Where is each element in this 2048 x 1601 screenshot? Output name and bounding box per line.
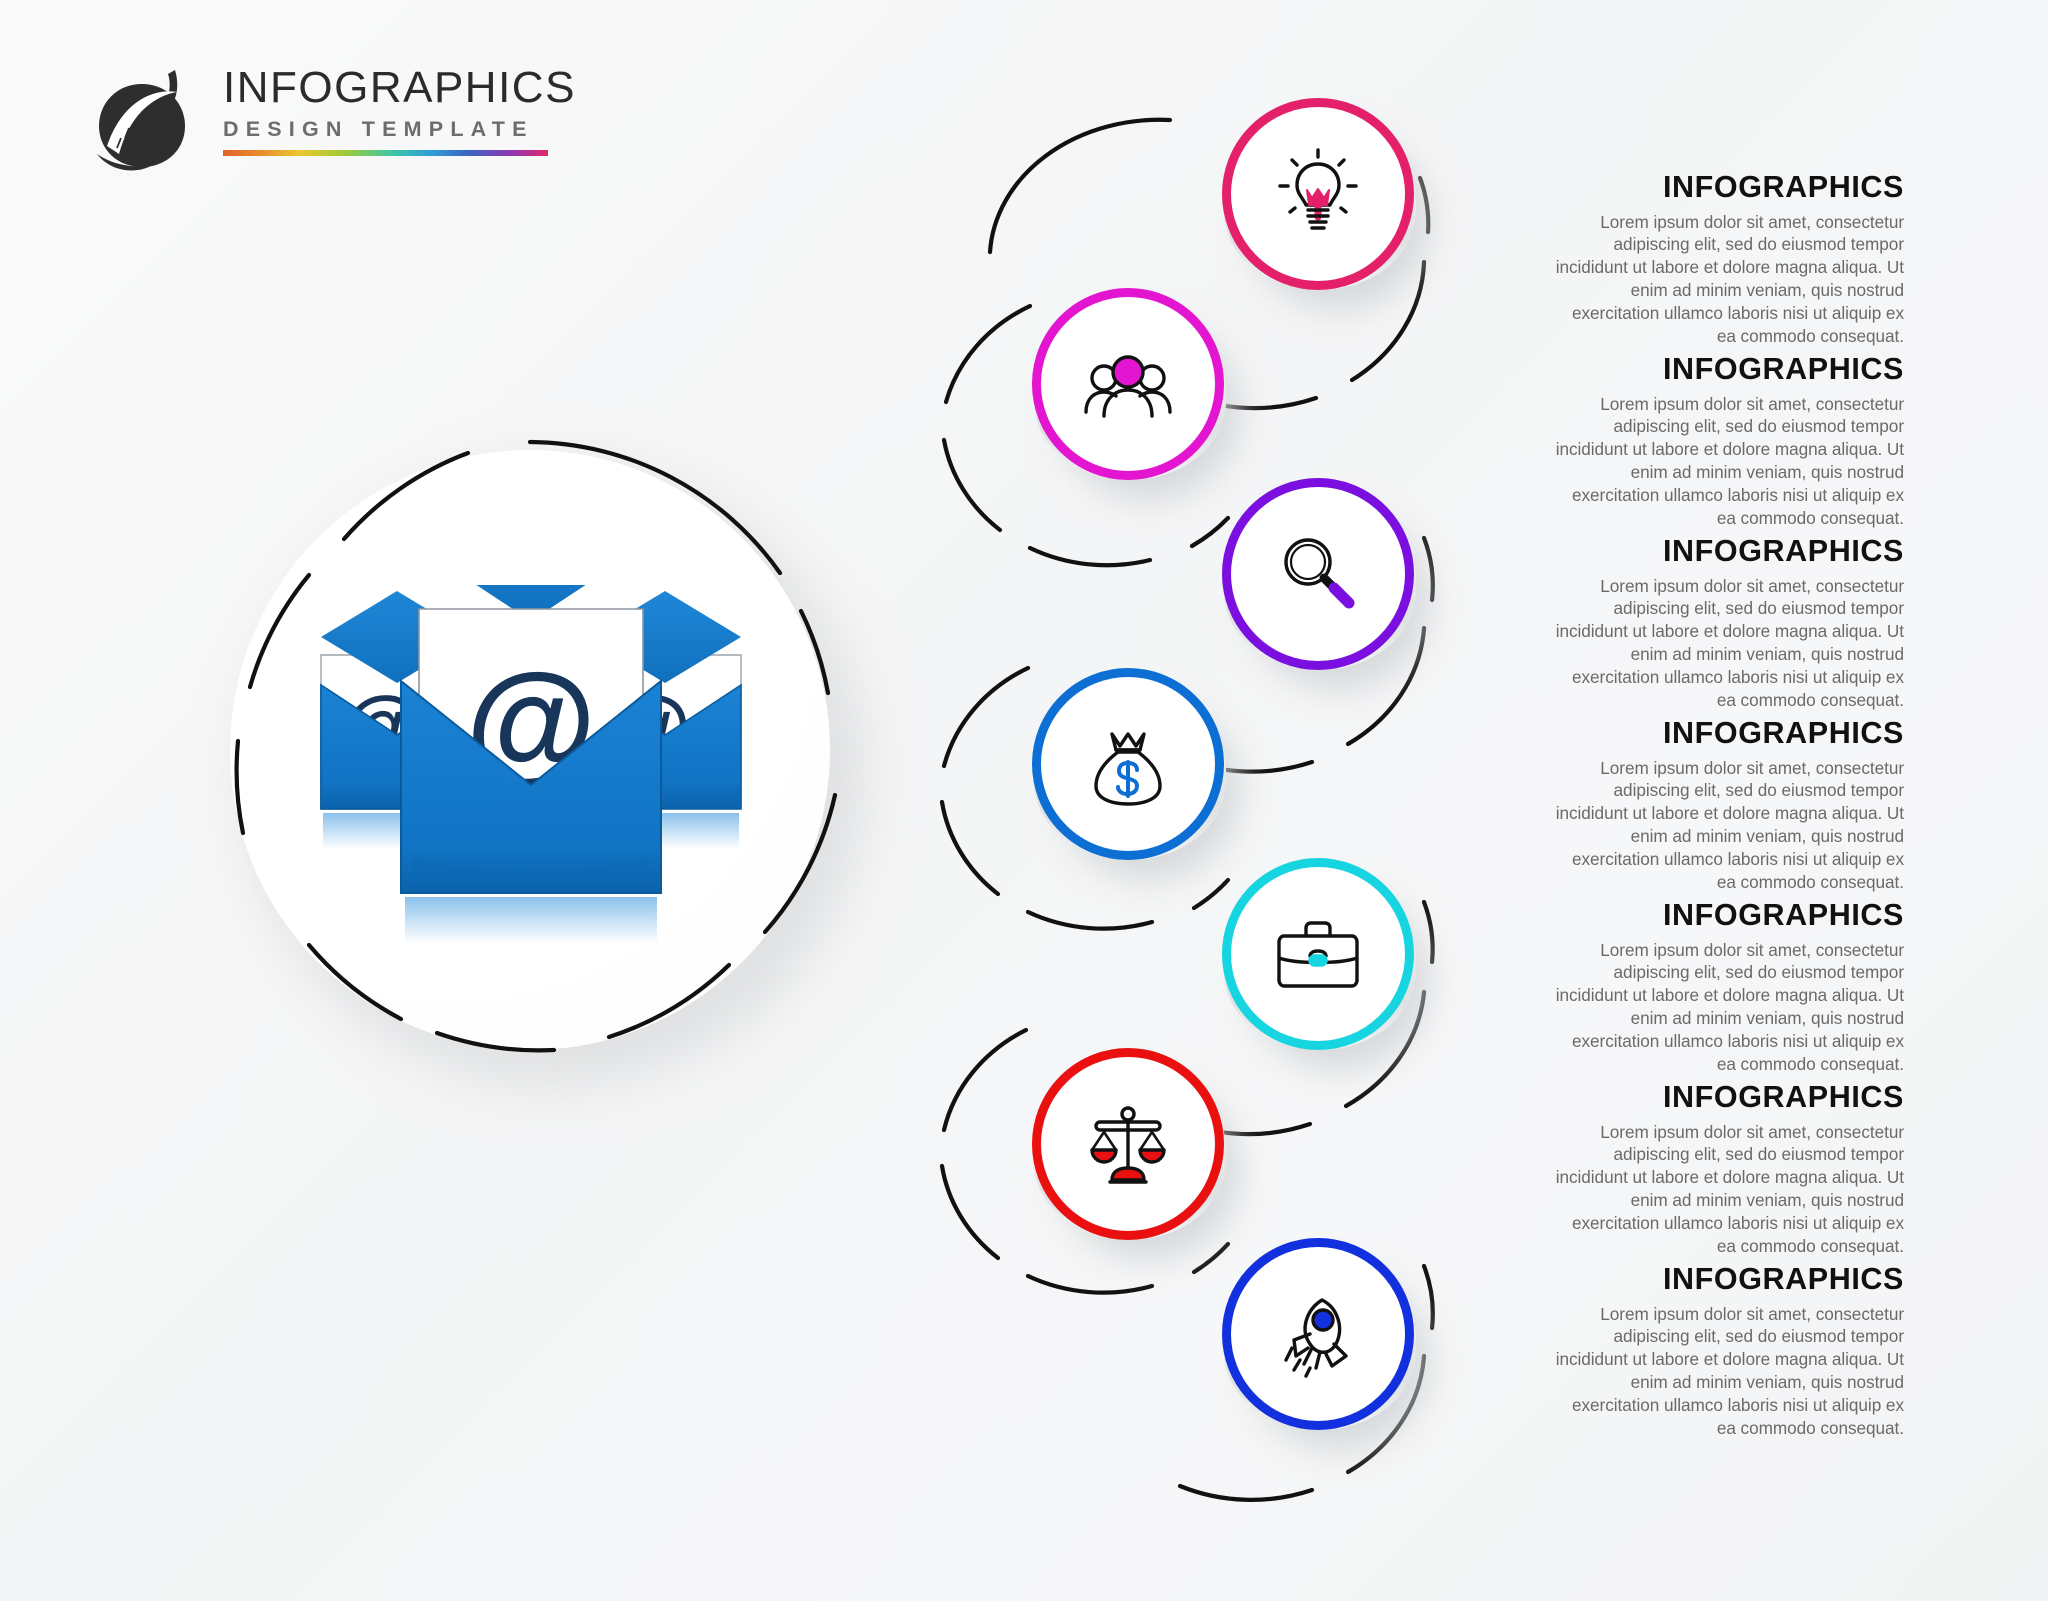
infographic-canvas: INFOGRAPHICS DESIGN TEMPLATE (0, 0, 2048, 1601)
step-puck-3[interactable] (1222, 478, 1418, 674)
step-puck-7[interactable] (1222, 1238, 1418, 1434)
step-text-1: INFOGRAPHICSLorem ipsum dolor sit amet, … (1552, 172, 1904, 348)
step-puck-2[interactable] (1032, 288, 1228, 484)
step-heading: INFOGRAPHICS (1552, 172, 1904, 203)
step-text-3: INFOGRAPHICSLorem ipsum dolor sit amet, … (1552, 536, 1904, 712)
step-puck-4[interactable] (1032, 668, 1228, 864)
step-body: Lorem ipsum dolor sit amet, consectetur … (1552, 1121, 1904, 1258)
step-text-4: INFOGRAPHICSLorem ipsum dolor sit amet, … (1552, 718, 1904, 894)
step-puck-1[interactable] (1222, 98, 1418, 294)
step-text-5: INFOGRAPHICSLorem ipsum dolor sit amet, … (1552, 900, 1904, 1076)
lightbulb-icon (1222, 98, 1414, 290)
step-body: Lorem ipsum dolor sit amet, consectetur … (1552, 939, 1904, 1076)
step-text-6: INFOGRAPHICSLorem ipsum dolor sit amet, … (1552, 1082, 1904, 1258)
step-body: Lorem ipsum dolor sit amet, consectetur … (1552, 575, 1904, 712)
step-puck-5[interactable] (1222, 858, 1418, 1054)
step-heading: INFOGRAPHICS (1552, 718, 1904, 749)
step-heading: INFOGRAPHICS (1552, 354, 1904, 385)
step-heading: INFOGRAPHICS (1552, 1264, 1904, 1295)
scales-justice-icon (1032, 1048, 1224, 1240)
step-puck-6[interactable] (1032, 1048, 1228, 1244)
step-heading: INFOGRAPHICS (1552, 1082, 1904, 1113)
users-group-icon (1032, 288, 1224, 480)
step-text-7: INFOGRAPHICSLorem ipsum dolor sit amet, … (1552, 1264, 1904, 1440)
step-heading: INFOGRAPHICS (1552, 900, 1904, 931)
step-heading: INFOGRAPHICS (1552, 536, 1904, 567)
money-bag-icon (1032, 668, 1224, 860)
briefcase-icon (1222, 858, 1414, 1050)
step-body: Lorem ipsum dolor sit amet, consectetur … (1552, 393, 1904, 530)
step-body: Lorem ipsum dolor sit amet, consectetur … (1552, 757, 1904, 894)
step-body: Lorem ipsum dolor sit amet, consectetur … (1552, 1303, 1904, 1440)
rocket-icon (1222, 1238, 1414, 1430)
step-text-2: INFOGRAPHICSLorem ipsum dolor sit amet, … (1552, 354, 1904, 530)
magnifier-search-icon (1222, 478, 1414, 670)
step-body: Lorem ipsum dolor sit amet, consectetur … (1552, 211, 1904, 348)
